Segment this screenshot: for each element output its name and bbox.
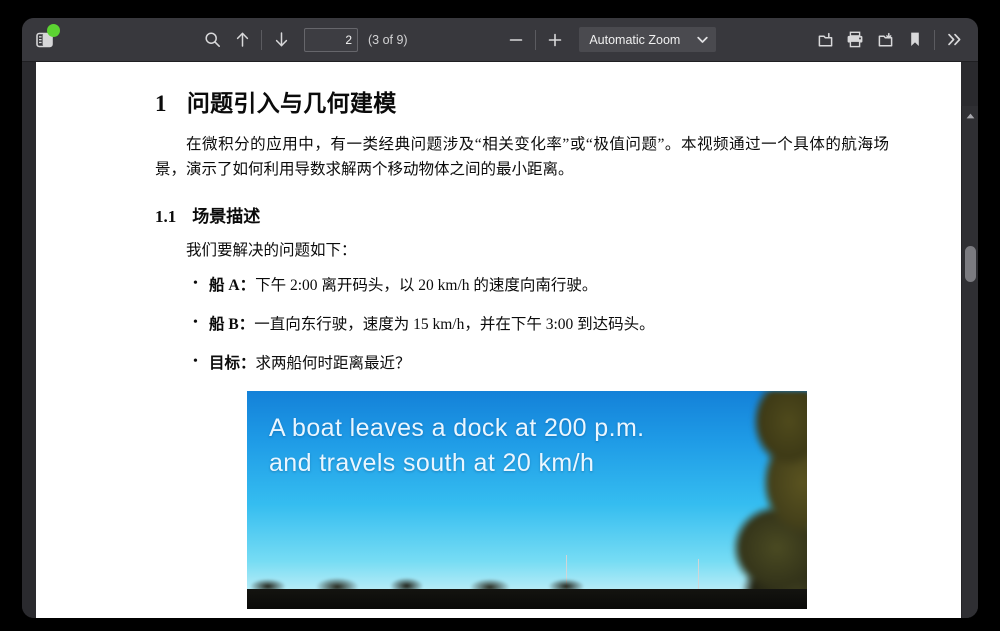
subsection-heading: 1.1场景描述 <box>155 202 899 227</box>
section-number: 1 <box>155 91 167 116</box>
pdf-page: 1问题引入与几何建模 在微积分的应用中，有一类经典问题涉及“相关变化率”或“极值… <box>36 62 961 618</box>
status-dot-icon <box>47 24 60 37</box>
bookmark-icon <box>909 31 921 48</box>
scroll-up-button[interactable] <box>962 109 978 123</box>
chevron-down-icon <box>697 36 708 44</box>
zoom-level-label: Automatic Zoom <box>589 33 680 47</box>
open-file-icon <box>817 32 834 48</box>
scroll-up-arrow-icon <box>966 113 975 119</box>
minus-icon <box>508 32 524 48</box>
list-item-text: 下午 2:00 离开码头，以 20 km/h 的速度向南行驶。 <box>255 277 597 294</box>
figure-caption-overlay: A boat leaves a dock at 200 p.m. and tra… <box>269 411 769 480</box>
zoom-out-button[interactable] <box>501 26 531 54</box>
figure-image: A boat leaves a dock at 200 p.m. and tra… <box>247 391 807 609</box>
page-number-input[interactable] <box>304 28 358 52</box>
pdf-viewer-window: (3 of 9) Automatic Zoom <box>22 18 978 618</box>
list-item: 船 B：一直向东行驶，速度为 15 km/h，并在下午 3:00 到达码头。 <box>193 313 899 337</box>
figure-caption-line-2: and travels south at 20 km/h <box>269 446 769 481</box>
search-button[interactable] <box>197 26 227 54</box>
zoom-level-select[interactable]: Automatic Zoom <box>579 27 716 52</box>
sidebar-toggle-button[interactable] <box>29 26 59 54</box>
vertical-scrollbar[interactable] <box>961 106 978 618</box>
foreground-strip <box>247 589 807 609</box>
tools-divider <box>934 30 935 50</box>
pdf-viewer-area[interactable]: 1问题引入与几何建模 在微积分的应用中，有一类经典问题涉及“相关变化率”或“极值… <box>22 62 978 618</box>
list-item-label: 目标： <box>209 355 256 372</box>
list-item-label: 船 B： <box>209 316 254 333</box>
arrow-down-icon <box>274 31 289 48</box>
subsection-number: 1.1 <box>155 207 176 226</box>
list-item-label: 船 A： <box>209 277 255 294</box>
double-chevron-right-icon <box>946 32 963 47</box>
toolbar-divider <box>261 30 262 50</box>
list-item-text: 一直向东行驶，速度为 15 km/h，并在下午 3:00 到达码头。 <box>254 316 654 333</box>
page-count-label: (3 of 9) <box>368 33 408 47</box>
search-icon <box>204 31 221 48</box>
section-heading: 1问题引入与几何建模 <box>155 84 899 118</box>
list-item-text: 求两船何时距离最近？ <box>256 355 411 372</box>
sail-mast <box>698 559 699 589</box>
arrow-up-icon <box>235 31 250 48</box>
figure-block: A boat leaves a dock at 200 p.m. and tra… <box>155 391 899 609</box>
section-title: 问题引入与几何建模 <box>187 91 397 116</box>
next-page-button[interactable] <box>266 26 296 54</box>
scroll-thumb[interactable] <box>965 246 976 282</box>
list-item: 船 A：下午 2:00 离开码头，以 20 km/h 的速度向南行驶。 <box>193 274 899 298</box>
more-tools-button[interactable] <box>939 26 969 54</box>
print-button[interactable] <box>840 26 870 54</box>
bullet-list: 船 A：下午 2:00 离开码头，以 20 km/h 的速度向南行驶。 船 B：… <box>155 274 899 376</box>
bookmark-button[interactable] <box>900 26 930 54</box>
plus-icon <box>547 32 563 48</box>
save-file-button[interactable] <box>870 26 900 54</box>
pdf-toolbar: (3 of 9) Automatic Zoom <box>22 18 978 62</box>
save-file-icon <box>877 32 894 48</box>
zoom-divider <box>535 30 536 50</box>
document-content: 1问题引入与几何建模 在微积分的应用中，有一类经典问题涉及“相关变化率”或“极值… <box>36 62 961 609</box>
intro-paragraph: 在微积分的应用中，有一类经典问题涉及“相关变化率”或“极值问题”。本视频通过一个… <box>155 132 899 182</box>
zoom-in-button[interactable] <box>540 26 570 54</box>
print-icon <box>846 31 864 48</box>
figure-caption-line-1: A boat leaves a dock at 200 p.m. <box>269 411 769 446</box>
previous-page-button[interactable] <box>227 26 257 54</box>
open-file-button[interactable] <box>810 26 840 54</box>
list-lead-text: 我们要解决的问题如下： <box>155 239 899 264</box>
subsection-title: 场景描述 <box>192 207 260 226</box>
list-item: 目标：求两船何时距离最近？ <box>193 352 899 376</box>
